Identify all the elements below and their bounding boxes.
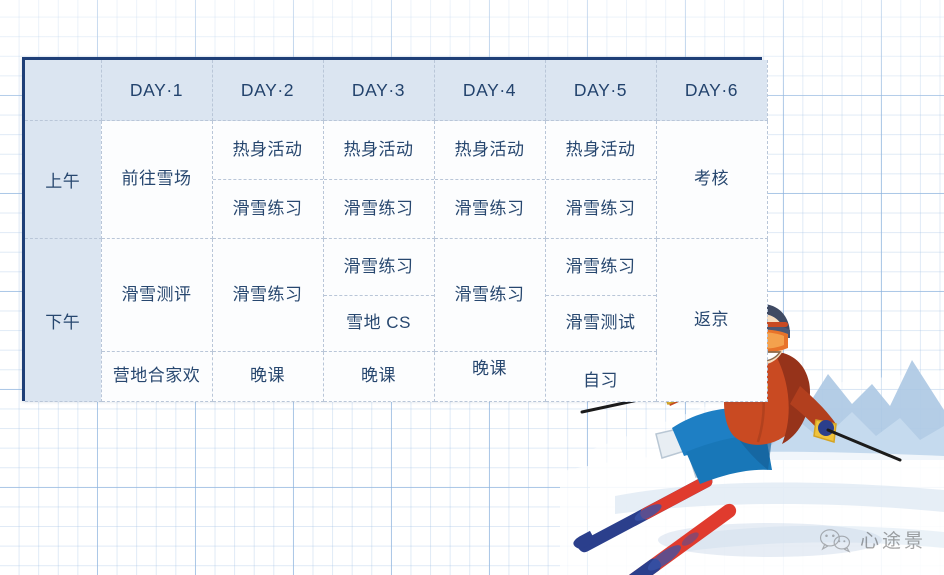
cell-afternoon-day-1: 滑雪测评 — [101, 239, 212, 352]
column-header-day-6: DAY·6 — [656, 60, 767, 121]
row-label-afternoon: 下午 — [25, 239, 101, 402]
cell-text: 晚课 — [435, 359, 545, 379]
column-header-day-4: DAY·4 — [434, 60, 545, 121]
schedule-table: DAY·1 DAY·2 DAY·3 DAY·4 DAY·5 DAY·6 上午 前… — [25, 60, 768, 402]
cell-text: 热身活动 — [233, 140, 303, 160]
cell-text: 滑雪测试 — [566, 313, 636, 333]
cell-evening-day-5: 自习 — [545, 352, 656, 402]
cell-evening-day-2: 晚课 — [212, 352, 323, 402]
cell-morning-day-1: 前往雪场 — [101, 121, 212, 239]
cell-text: 滑雪测评 — [102, 285, 212, 305]
cell-text: 自习 — [546, 371, 656, 391]
table-corner-cell — [25, 60, 101, 121]
cell-evening-day-4: 晚课 — [434, 352, 545, 402]
cell-text: 热身活动 — [344, 140, 414, 160]
column-header-day-1: DAY·1 — [101, 60, 212, 121]
cell-text: 滑雪练习 — [344, 257, 414, 277]
cell-afternoon-day-2: 滑雪练习 — [212, 239, 323, 352]
table-row-evening: 营地合家欢 晚课 晚课 晚课 自习 — [25, 352, 767, 402]
cell-afternoon-day-5: 滑雪练习 滑雪测试 — [545, 239, 656, 352]
cell-afternoon-day-6: 返京 — [656, 239, 767, 402]
cell-text: 晚课 — [213, 366, 323, 386]
cell-text: 滑雪练习 — [455, 199, 525, 219]
cell-text: 雪地 CS — [346, 313, 411, 333]
cell-evening-day-3: 晚课 — [323, 352, 434, 402]
cell-morning-day-3: 热身活动 滑雪练习 — [323, 121, 434, 239]
schedule-table-container: DAY·1 DAY·2 DAY·3 DAY·4 DAY·5 DAY·6 上午 前… — [22, 57, 762, 401]
cell-morning-day-4: 热身活动 滑雪练习 — [434, 121, 545, 239]
cell-text: 滑雪练习 — [566, 199, 636, 219]
cell-afternoon-day-4: 滑雪练习 — [434, 239, 545, 352]
watermark-text: 心途景 — [860, 526, 926, 553]
column-header-day-3: DAY·3 — [323, 60, 434, 121]
cell-text: 营地合家欢 — [102, 366, 212, 386]
table-header-row: DAY·1 DAY·2 DAY·3 DAY·4 DAY·5 DAY·6 — [25, 60, 767, 121]
cell-text: 热身活动 — [566, 140, 636, 160]
cell-text: 滑雪练习 — [435, 285, 545, 305]
cell-text: 晚课 — [324, 366, 434, 386]
cell-evening-day-1: 营地合家欢 — [101, 352, 212, 402]
cell-afternoon-day-3: 滑雪练习 雪地 CS — [323, 239, 434, 352]
table-row-morning: 上午 前往雪场 热身活动 滑雪练习 热身活动 滑雪练习 热身活动 滑雪练习 — [25, 121, 767, 239]
cell-text: 滑雪练习 — [566, 257, 636, 277]
cell-text: 返京 — [657, 310, 767, 330]
cell-text: 滑雪练习 — [213, 285, 323, 305]
cell-text: 滑雪练习 — [344, 199, 414, 219]
cell-text: 考核 — [657, 169, 767, 189]
watermark: 心途景 — [818, 526, 926, 553]
cell-morning-day-2: 热身活动 滑雪练习 — [212, 121, 323, 239]
table-row-afternoon: 下午 滑雪测评 滑雪练习 滑雪练习 雪地 CS 滑雪练习 滑雪练习 滑雪测试 — [25, 239, 767, 352]
column-header-day-5: DAY·5 — [545, 60, 656, 121]
cell-text: 热身活动 — [455, 140, 525, 160]
cell-text: 滑雪练习 — [233, 199, 303, 219]
wechat-logo-icon — [818, 527, 852, 553]
row-label-morning: 上午 — [25, 121, 101, 239]
column-header-day-2: DAY·2 — [212, 60, 323, 121]
cell-morning-day-5: 热身活动 滑雪练习 — [545, 121, 656, 239]
cell-text: 前往雪场 — [102, 169, 212, 189]
cell-morning-day-6: 考核 — [656, 121, 767, 239]
